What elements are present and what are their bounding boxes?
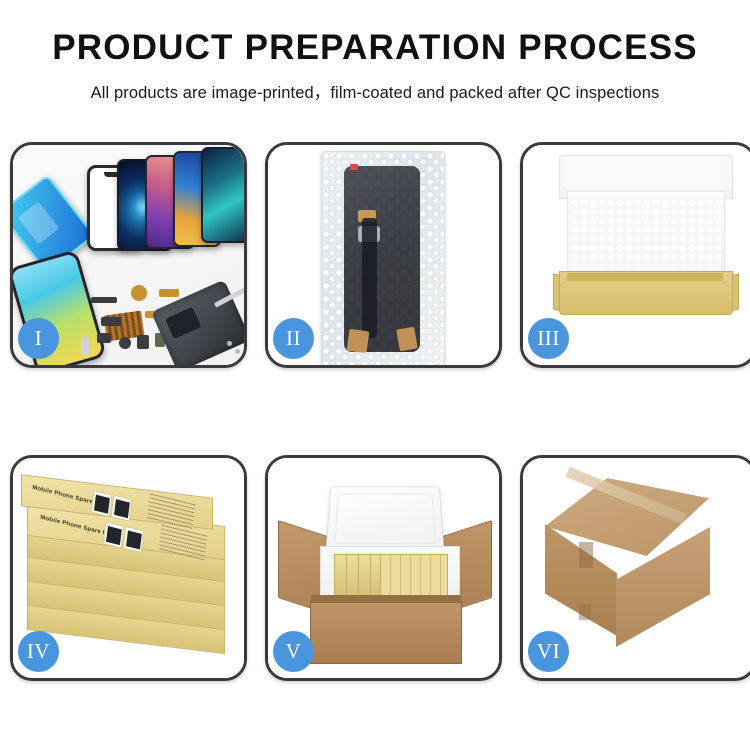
connector-part [159,289,179,297]
foam-lining [569,197,721,273]
step-panel-2: II [265,142,502,368]
step-panel-6: VI [520,455,750,681]
small-part-c [119,337,131,349]
carton-seam-upper [579,542,593,568]
step-panel-5: V [265,455,502,681]
small-part-d [137,335,149,349]
small-part-a [101,317,121,326]
step-badge-5: V [273,631,314,672]
lcd-screen-assembly [344,166,420,352]
retail-box-thumb-b2 [123,526,145,553]
gold-chip-icon [131,285,147,301]
retail-box-thumb-a1 [91,490,113,517]
adhesive-tape-left [347,329,370,354]
step-badge-4: IV [18,631,59,672]
retail-box-thumb-b1 [103,521,125,548]
retail-box-thumb-a2 [111,494,133,521]
retail-box-stack: Mobile Phone Spare Parts Mobile Phone Sp… [21,484,237,660]
page-subtitle: All products are image-printed，film-coat… [0,79,750,103]
step-badge-2: II [273,318,314,359]
adhesive-tape-right [396,327,418,352]
small-part-b [97,333,111,343]
red-qc-sticker [350,164,358,170]
step-badge-1: I [18,318,59,359]
screen-flex-cable [362,218,377,338]
bubble-wrap-bag [321,151,445,365]
step-panel-1: I [10,142,247,368]
page-header: PRODUCT PREPARATION PROCESS All products… [0,0,750,103]
kraft-box-inner-edge [567,273,723,281]
step-badge-6: VI [528,631,569,672]
styrofoam-lid [326,486,445,552]
carton-seam-lower [579,604,591,620]
screw-part-a [227,341,232,346]
packed-box-group-right [380,554,448,596]
step-panel-4: Mobile Phone Spare Parts Mobile Phone Sp… [10,455,247,681]
step-panel-3: III [520,142,750,368]
page-title: PRODUCT PREPARATION PROCESS [0,30,750,65]
phone-screen-teal [201,147,244,243]
step-badge-3: III [528,318,569,359]
flex-cable-part [91,297,117,303]
process-steps-grid: I II [10,142,744,681]
screw-part-b [235,349,240,354]
sim-tray-part [81,337,89,355]
carton-body [310,600,462,664]
product-preparation-process-page: PRODUCT PREPARATION PROCESS All products… [0,0,750,750]
